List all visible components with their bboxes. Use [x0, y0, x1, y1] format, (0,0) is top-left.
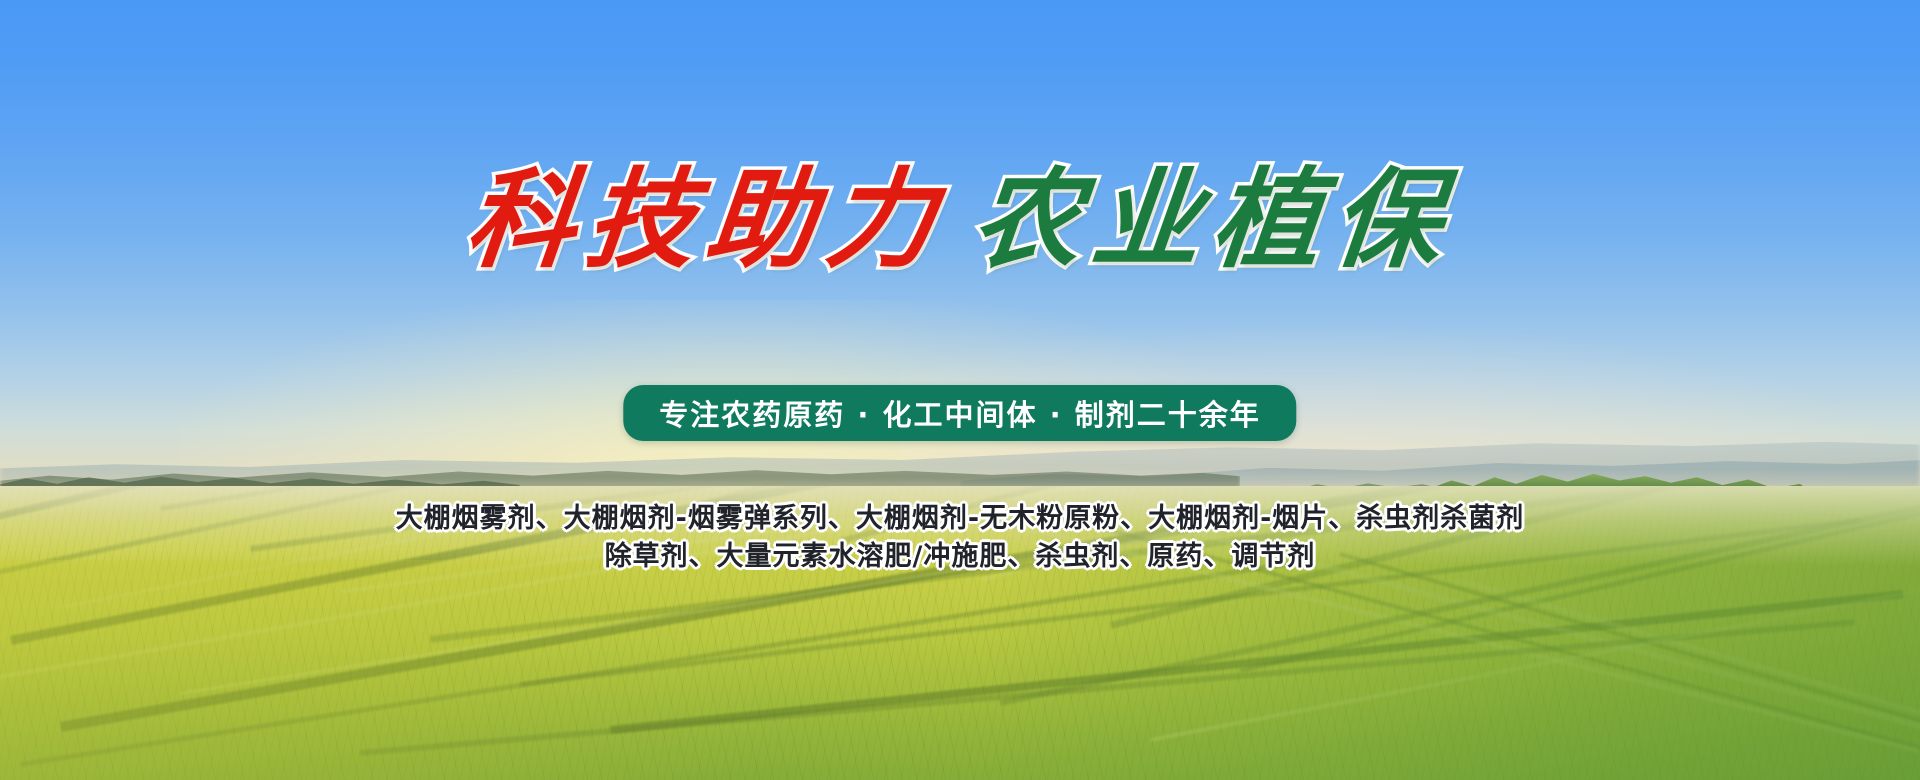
tagline-badge: 专注农药原药 · 化工中间体 · 制剂二十余年 — [623, 385, 1296, 441]
tagline-badge-text: 专注农药原药 · 化工中间体 · 制剂二十余年 — [659, 392, 1260, 434]
crop-field — [0, 486, 1920, 780]
hero-banner: 科技助力农业植保 专注农药原药 · 化工中间体 · 制剂二十余年 大棚烟雾剂、大… — [0, 0, 1920, 780]
